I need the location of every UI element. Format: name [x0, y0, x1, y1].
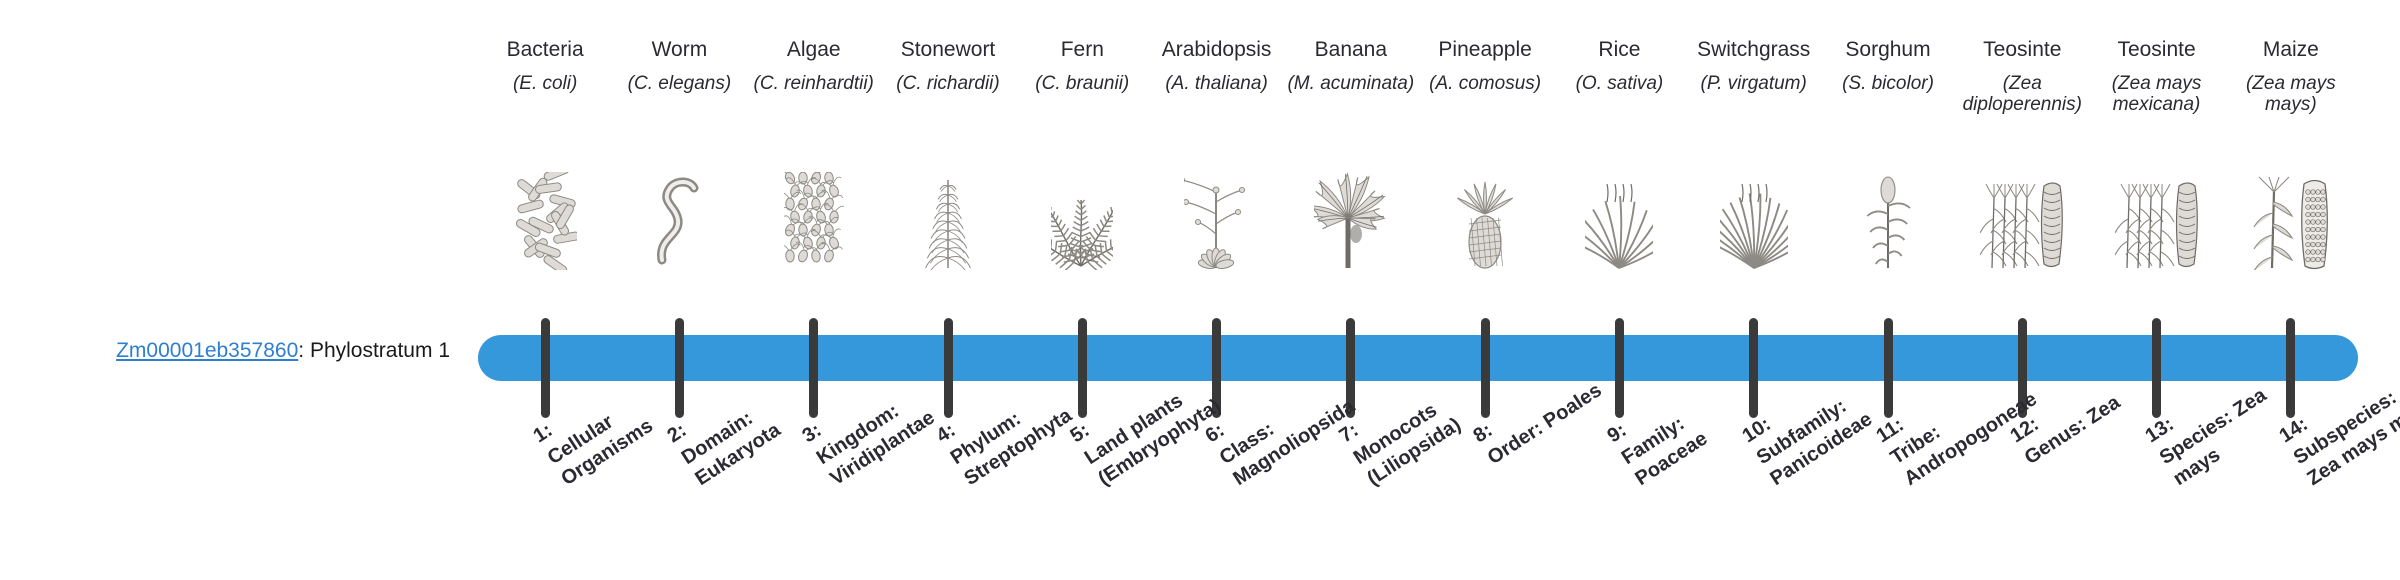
- species-scientific-name: (Zea mays mays): [2224, 73, 2358, 116]
- banana-plant-icon: [1284, 170, 1418, 270]
- species-common-name: Switchgrass: [1687, 38, 1821, 61]
- rice-plant-icon: [1552, 170, 1686, 270]
- bacteria-rods-icon: [478, 170, 612, 270]
- species-common-name: Arabidopsis: [1150, 38, 1284, 61]
- sorghum-icon: [1821, 170, 1955, 270]
- species-scientific-name: (E. coli): [478, 73, 612, 94]
- species-scientific-name: (A. thaliana): [1150, 73, 1284, 94]
- species-scientific-name: (O. sativa): [1552, 73, 1686, 94]
- maize-plant-ear-icon: [2224, 170, 2358, 270]
- species-common-name: Banana: [1284, 38, 1418, 61]
- species-common-name: Sorghum: [1821, 38, 1955, 61]
- species-scientific-name: (M. acuminata): [1284, 73, 1418, 94]
- species-scientific-name: (C. richardii): [881, 73, 1015, 94]
- gene-id-link[interactable]: Zm00001eb357860: [116, 339, 298, 362]
- species-common-name: Stonewort: [881, 38, 1015, 61]
- species-common-name: Maize: [2224, 38, 2358, 61]
- species-column: Fern(C. braunii): [1015, 0, 1149, 320]
- species-common-name: Teosinte: [1955, 38, 2089, 61]
- species-scientific-name: (C. elegans): [612, 73, 746, 94]
- species-scientific-name: (Zea mays mexicana): [2090, 73, 2224, 116]
- species-common-name: Bacteria: [478, 38, 612, 61]
- species-common-name: Algae: [747, 38, 881, 61]
- species-column: Teosinte(Zea mays mexicana): [2090, 0, 2224, 320]
- species-common-name: Teosinte: [2090, 38, 2224, 61]
- species-column: Arabidopsis(A. thaliana): [1150, 0, 1284, 320]
- arabidopsis-icon: [1150, 170, 1284, 270]
- species-column: Pineapple(A. comosus): [1418, 0, 1552, 320]
- species-column: Rice(O. sativa): [1552, 0, 1686, 320]
- switchgrass-icon: [1687, 170, 1821, 270]
- stonewort-icon: [881, 170, 1015, 270]
- phylostratigraphy-figure: Zm00001eb357860: Phylostratum 1 Bacteria…: [0, 0, 2400, 580]
- gene-label-separator: :: [298, 339, 310, 362]
- species-common-name: Worm: [612, 38, 746, 61]
- teosinte-plant-ear-icon: [1955, 170, 2089, 270]
- gene-phylostratum-label: Zm00001eb357860: Phylostratum 1: [30, 340, 450, 361]
- species-scientific-name: (C. braunii): [1015, 73, 1149, 94]
- species-column: Bacteria(E. coli): [478, 0, 612, 320]
- pineapple-icon: [1418, 170, 1552, 270]
- species-scientific-name: (P. virgatum): [1687, 73, 1821, 94]
- fern-frond-icon: [1015, 170, 1149, 270]
- algae-cells-icon: [747, 170, 881, 270]
- species-column: Worm(C. elegans): [612, 0, 746, 320]
- species-scientific-name: (C. reinhardtii): [747, 73, 881, 94]
- timeline-tick[interactable]: [541, 318, 550, 418]
- species-scientific-name: (A. comosus): [1418, 73, 1552, 94]
- species-scientific-name: (Zea diploperennis): [1955, 73, 2089, 116]
- species-scientific-name: (S. bicolor): [1821, 73, 1955, 94]
- species-common-name: Fern: [1015, 38, 1149, 61]
- gene-phylostratum-value: Phylostratum 1: [310, 339, 450, 362]
- species-common-name: Pineapple: [1418, 38, 1552, 61]
- teosinte-plant-ear-icon: [2090, 170, 2224, 270]
- species-common-name: Rice: [1552, 38, 1686, 61]
- species-column: Teosinte(Zea diploperennis): [1955, 0, 2089, 320]
- nematode-worm-icon: [612, 170, 746, 270]
